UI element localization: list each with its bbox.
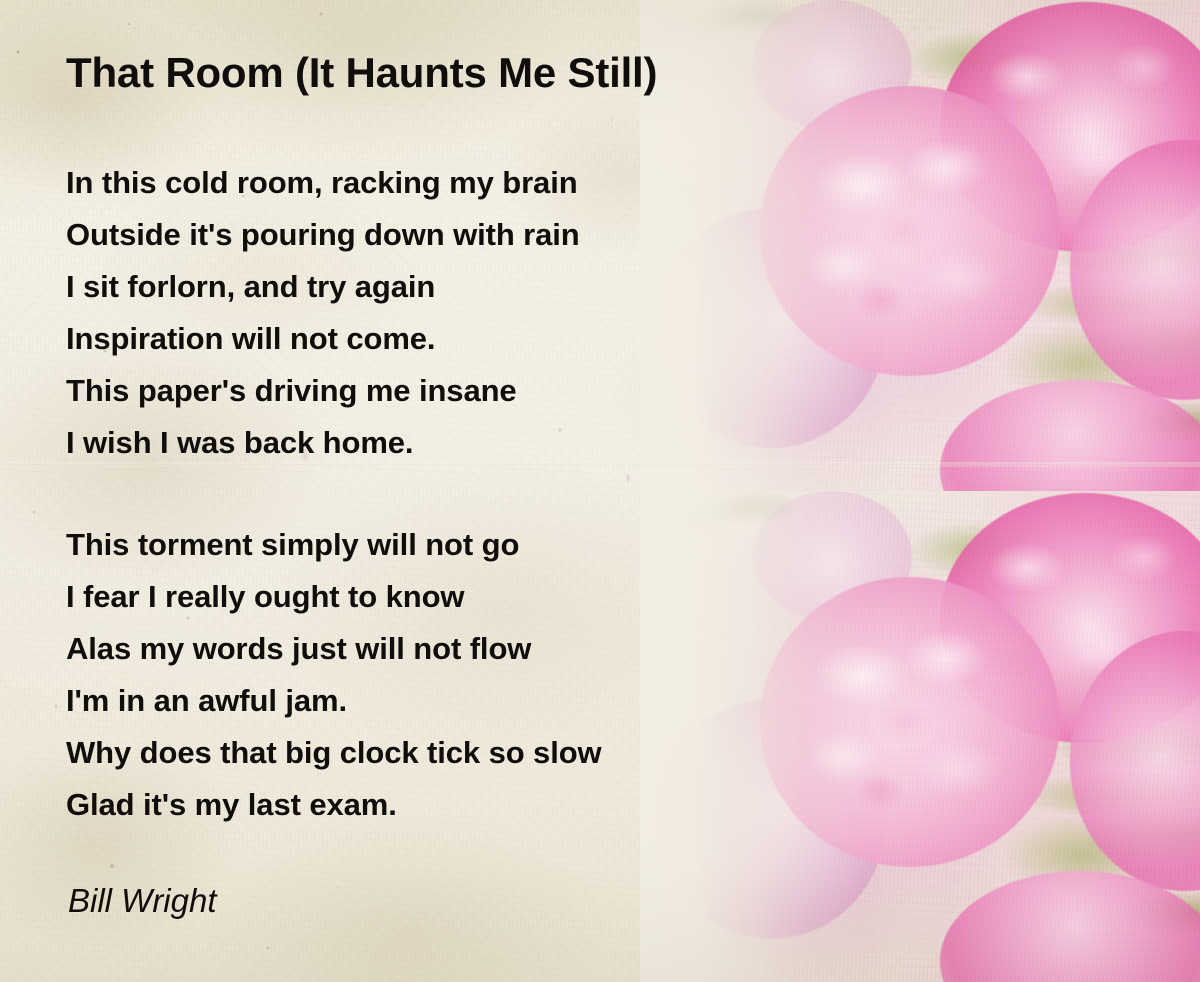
- stanza-1: In this cold room, racking my brain Outs…: [66, 157, 580, 469]
- poem-content: That Room (It Haunts Me Still) In this c…: [0, 0, 1200, 982]
- poem-line: I wish I was back home.: [66, 417, 580, 469]
- poem-author: Bill Wright: [68, 882, 217, 920]
- poem-line: This paper's driving me insane: [66, 365, 580, 417]
- poem-line: I'm in an awful jam.: [66, 675, 602, 727]
- poem-line: Inspiration will not come.: [66, 313, 580, 365]
- poem-line: Alas my words just will not flow: [66, 623, 602, 675]
- poem-line: I sit forlorn, and try again: [66, 261, 580, 313]
- poem-line: In this cold room, racking my brain: [66, 157, 580, 209]
- poem-line: I fear I really ought to know: [66, 571, 602, 623]
- poem-line: Outside it's pouring down with rain: [66, 209, 580, 261]
- poem-line: Why does that big clock tick so slow: [66, 727, 602, 779]
- poem-line: Glad it's my last exam.: [66, 779, 602, 831]
- poem-line: This torment simply will not go: [66, 519, 602, 571]
- poem-card: That Room (It Haunts Me Still) In this c…: [0, 0, 1200, 982]
- stanza-2: This torment simply will not go I fear I…: [66, 519, 602, 831]
- poem-title: That Room (It Haunts Me Still): [66, 49, 657, 97]
